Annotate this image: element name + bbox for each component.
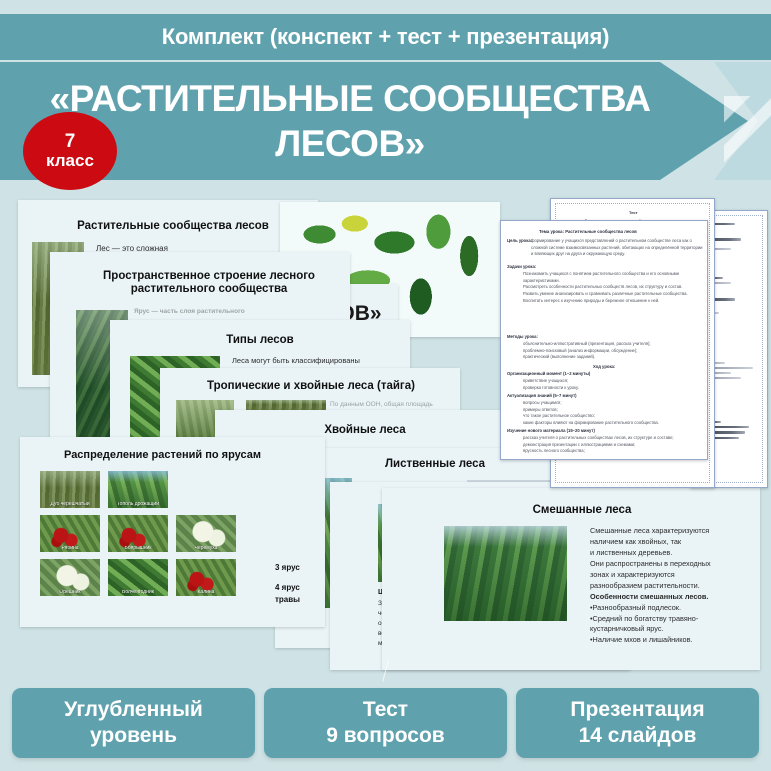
slide2-title-line2: растительного сообщества [131,283,288,295]
lesson-plan-stage-1-items: приветствие учащихся; проверка готовност… [523,378,703,391]
slide7-photo-6-caption: Орешник [40,590,100,596]
lesson-plan-methods-label: Методы урока: [507,334,538,339]
lesson-plan-stage-2-item-4: какие факторы влияют на формирование рас… [523,420,703,427]
lesson-plan-task-3: Развить умение анализировать и сравниват… [523,291,703,298]
slide-smeshannye-lesa[interactable]: Смешанные леса Смешанные леса характериз… [382,488,760,670]
test-page-1-header: Тест [629,210,638,215]
slide7-photo-7: Волчеягодник [108,559,168,596]
slide7-photo-3: Рябина [40,515,100,552]
lesson-plan-stage-2-item-3: что такое растительное сообщество; [523,413,703,420]
lesson-plan-tasks-label: Задачи урока: [507,264,536,269]
lesson-plan-task-2: Рассмотреть особенности растительных соо… [523,284,703,291]
slide7-photo-2: Тополь дрожащий [108,471,168,508]
slide9-bullet-3: •Наличие мхов и лишайников. [590,635,693,644]
slide7-photo-1: Дуб черешчатый [40,471,100,508]
slide7-photo-5: Черемуха [176,515,236,552]
slide2-title: Пространственное строение лесного растит… [70,270,348,296]
slide2-body: Ярус — часть слоя растительного [134,308,344,317]
slide9-bullet-1: •Разнообразный подлесок. [590,603,681,612]
slide1-title: Растительные сообщества лесов [34,220,312,233]
footer-cards: Углубленный уровень Тест 9 вопросов През… [0,676,771,771]
slide9-body-line1: Смешанные леса характеризуются [590,526,709,535]
lesson-plan-stage-3-items: рассказ учителя о растительных сообществ… [523,435,703,455]
lesson-plan-task-1: Познакомить учащихся с понятием растител… [523,271,703,284]
slide4-body: По данным ООН, общая площадь [330,401,460,410]
slide7-photo-7-caption: Волчеягодник [108,590,168,596]
slide7-title: Распределение растений по ярусам [64,449,294,462]
lesson-plan-stage-1-item-1: приветствие учащихся; [523,378,703,385]
header-banner: Комплект (конспект + тест + презентация)… [0,0,771,192]
lesson-plan-stage-2-item-1: вопросы учащимся; [523,400,703,407]
lesson-plan-stage-3-item-3: ярусность лесного сообщества; [523,448,703,455]
slide7-photo-6: Орешник [40,559,100,596]
slide7-photo-4: Боярышник [108,515,168,552]
slide-stack: Растительные сообщества лесов Лес — это … [0,192,771,670]
footer-card-level-line2: уровень [90,723,177,749]
slide7-photo-4-caption: Боярышник [108,546,168,552]
footer-card-test-line1: Тест [363,697,408,723]
slide2-title-line1: Пространственное строение лесного [103,270,315,282]
lesson-plan-method-3: практический (выполнение заданий). [523,354,703,361]
lesson-plan-stage-2: Актуализация знаний (5–7 минут) [507,393,577,398]
header-subtitle: Комплект (конспект + тест + презентация) [0,14,771,60]
slide9-body-line6: разнообразием растительности. [590,581,700,590]
footer-card-presentation[interactable]: Презентация 14 слайдов [516,688,759,758]
lesson-plan-methods-list: объяснительно-иллюстративный (презентаци… [523,341,703,361]
grade-badge-label: класс [46,152,94,170]
slide3-body-line1: Леса могут быть классифицированы [232,356,410,366]
slide9-body: Смешанные леса характеризуются наличием … [590,526,760,646]
lesson-plan-method-2: проблемно-поисковый (анализ информации, … [523,348,703,355]
grade-badge: 7 класс [23,112,117,190]
slide9-features-heading: Особенности смешанных лесов. [590,592,708,601]
footer-card-test[interactable]: Тест 9 вопросов [264,688,507,758]
footer-card-presentation-line1: Презентация [570,697,704,723]
lesson-plan-stage-3-item-1: рассказ учителя о растительных сообществ… [523,435,703,442]
slide9-body-line3: и лиственных деревьев. [590,548,672,557]
slide9-body-line4: Они распространены в переходных [590,559,711,568]
slide7-photo-5-caption: Черемуха [176,546,236,552]
lesson-plan-course-label: Ход урока: [593,364,615,369]
lesson-plan-stage-3: Изучение нового материала (15–20 минут) [507,428,595,433]
slide7-photo-3-caption: Рябина [40,546,100,552]
slide9-photo-mixed-forest [444,526,567,621]
lesson-plan-goal-text: формирование у учащихся представлений о … [531,238,703,258]
slide9-title: Смешанные леса [482,504,682,517]
slide7-photo-2-caption: Тополь дрожащий [108,502,168,508]
header-accent-stripes [724,96,771,192]
footer-card-level[interactable]: Углубленный уровень [12,688,255,758]
lesson-plan-goal-label: Цель урока: [507,238,532,243]
slide7-photo-8: Калина [176,559,236,596]
slide7-photo-8-caption: Калина [176,590,236,596]
document-lesson-plan[interactable]: Тема урока: Растительные сообщества лесо… [500,220,708,460]
footer-card-presentation-line2: 14 слайдов [579,723,697,749]
footer-card-level-line1: Углубленный [64,697,203,723]
lesson-plan-method-1: объяснительно-иллюстративный (презентаци… [523,341,703,348]
lesson-plan-stage-3-item-2: демонстрация презентации с иллюстрациями… [523,442,703,449]
slide4-photo-strip [246,400,326,410]
slide9-body-line2: наличием как хвойных, так [590,537,681,546]
slide4-title: Тропические и хвойные леса (тайга) [166,380,456,393]
lesson-plan-stage-2-item-2: примеры ответов; [523,407,703,414]
slide7-tier-3: 3 ярус [275,563,300,574]
grade-badge-number: 7 [65,132,76,153]
lesson-plan-tasks-list: Познакомить учащихся с понятием растител… [523,271,703,305]
lesson-plan-stage-1-item-2: проверка готовности к уроку. [523,385,703,392]
slide5-title: Хвойные леса [225,424,505,437]
slide9-body-line5: зонах и характеризуются [590,570,675,579]
lesson-plan-topic: Тема урока: Растительные сообщества лесо… [539,229,637,234]
lesson-plan-stage-2-items: вопросы учащимся; примеры ответов; что т… [523,400,703,427]
slide7-photo-1-caption: Дуб черешчатый [40,502,100,508]
slide-raspredelenie-yarusy[interactable]: Распределение растений по ярусам Дуб чер… [20,437,325,627]
slide9-bullet-2: •Средний по богатству травяно- [590,614,698,623]
footer-card-test-line2: 9 вопросов [326,723,444,749]
slide7-tier-4: 4 ярус [275,583,300,594]
slide9-bullet-2b: кустарничковый ярус. [590,624,664,633]
page-title-line1: «РАСТИТЕЛЬНЫЕ СООБЩЕСТВА [50,76,651,122]
slide3-title: Типы лесов [120,334,400,347]
page-title-line2: ЛЕСОВ» [275,121,425,167]
lesson-plan-stage-1: Организационный момент (1–2 минуты) [507,371,590,376]
slide7-tier-4-sub: травы [275,595,300,606]
lesson-plan-task-4: Воспитать интерес к изучению природы и б… [523,298,703,305]
